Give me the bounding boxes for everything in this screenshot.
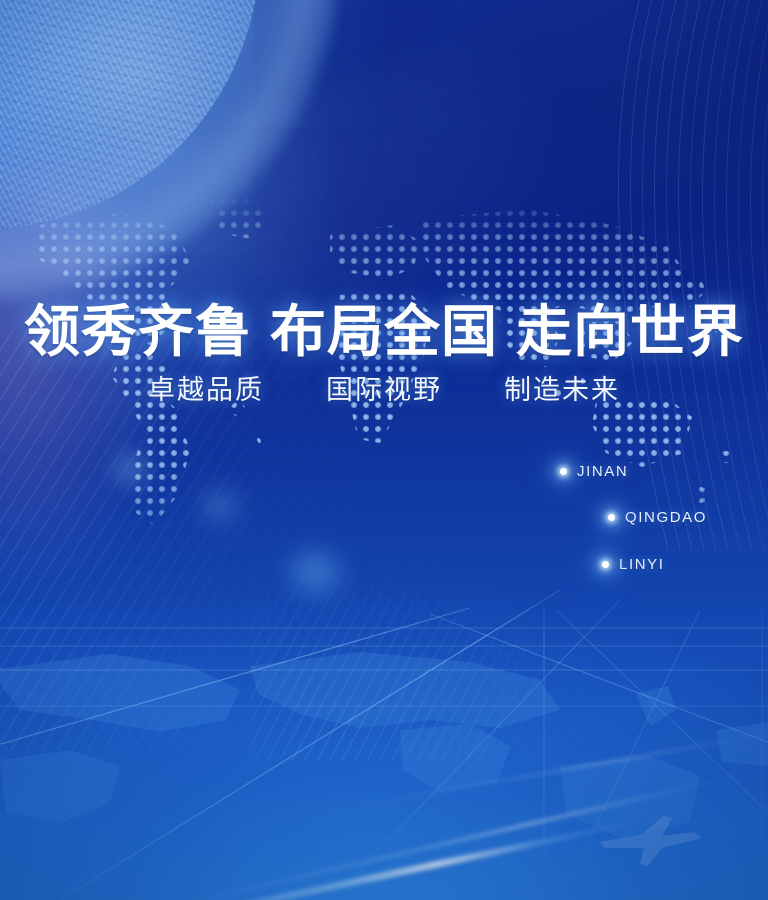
- subheadline-segment-1: 卓越品质: [148, 372, 264, 408]
- city-label: LINYI: [619, 556, 665, 573]
- headline-segment-3: 走向世界: [516, 302, 744, 364]
- city-marker-linyi[interactable]: LINYI: [602, 556, 665, 573]
- hero-banner: 领秀齐鲁布局全国走向世界 卓越品质国际视野制造未来 JINAN QINGDAO …: [0, 0, 768, 900]
- headline: 领秀齐鲁布局全国走向世界: [0, 302, 768, 364]
- banner-content: 领秀齐鲁布局全国走向世界 卓越品质国际视野制造未来 JINAN QINGDAO …: [0, 0, 768, 900]
- city-dot-marker-icon: [560, 468, 567, 475]
- city-dot-marker-icon: [608, 514, 615, 521]
- city-label: QINGDAO: [625, 509, 707, 526]
- subheadline: 卓越品质国际视野制造未来: [0, 372, 768, 408]
- city-dot-marker-icon: [602, 561, 609, 568]
- subheadline-segment-3: 制造未来: [504, 372, 620, 408]
- city-marker-qingdao[interactable]: QINGDAO: [608, 509, 707, 526]
- city-label: JINAN: [577, 463, 628, 480]
- city-marker-jinan[interactable]: JINAN: [560, 463, 628, 480]
- headline-segment-2: 布局全国: [270, 302, 498, 364]
- headline-segment-1: 领秀齐鲁: [24, 302, 252, 364]
- subheadline-segment-2: 国际视野: [326, 372, 442, 408]
